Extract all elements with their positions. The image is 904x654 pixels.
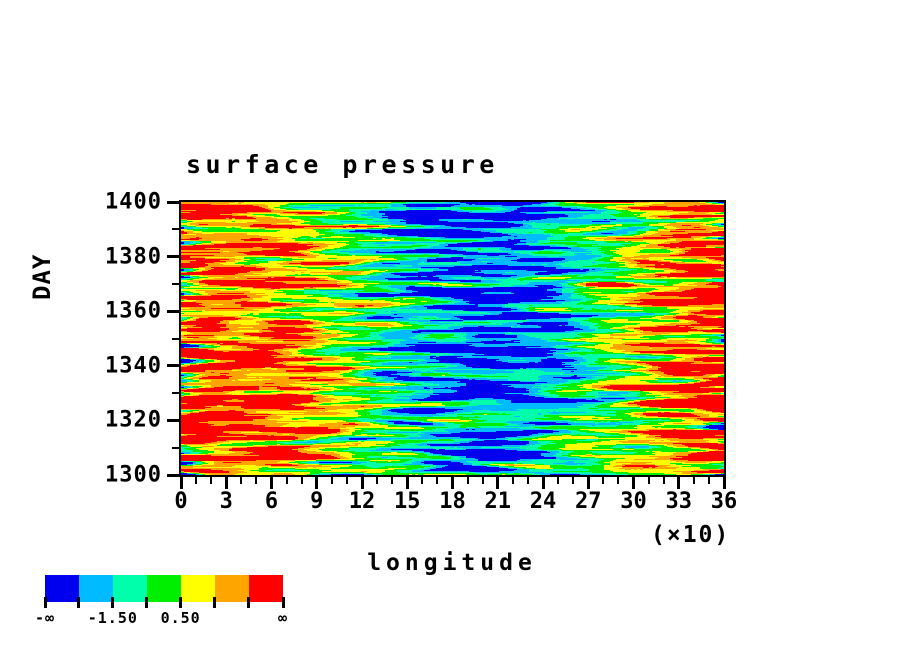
colorbar-swatch [113, 575, 147, 602]
x-tick-minor [482, 477, 484, 484]
x-tick-major [270, 477, 273, 489]
colorbar-tick [213, 597, 216, 608]
x-tick-label: 33 [666, 489, 693, 514]
x-tick-label: 3 [220, 489, 233, 514]
x-axis-scale-note: (×10) [651, 522, 730, 548]
x-tick-minor [693, 477, 695, 484]
x-tick-minor [602, 477, 604, 484]
y-tick-major [167, 419, 179, 422]
x-tick-label: 30 [620, 489, 647, 514]
y-tick-minor [172, 447, 179, 449]
colorbar-tick-label: -1.50 [88, 609, 138, 627]
x-tick-major [451, 477, 454, 489]
colorbar-tick-label: -∞ [35, 609, 55, 627]
colorbar-tick [282, 597, 285, 608]
colorbar-swatch [215, 575, 249, 602]
x-tick-label: 9 [310, 489, 323, 514]
x-tick-major [587, 477, 590, 489]
colorbar-tick [77, 597, 80, 608]
x-tick-label: 18 [439, 489, 466, 514]
colorbar-tick [247, 597, 250, 608]
colorbar-swatch [45, 575, 79, 602]
x-tick-major [632, 477, 635, 489]
x-tick-label: 6 [265, 489, 278, 514]
colorbar-swatch [79, 575, 113, 602]
colorbar-tick [145, 597, 148, 608]
colorbar-tick [44, 597, 47, 608]
x-tick-label: 12 [349, 489, 376, 514]
x-tick-minor [467, 477, 469, 484]
x-tick-minor [527, 477, 529, 484]
figure-root: surface pressure 0369121518212427303336 … [0, 0, 904, 654]
x-tick-minor [663, 477, 665, 484]
x-tick-major [180, 477, 183, 489]
colorbar-tick-label: 0.50 [161, 609, 201, 627]
y-tick-major [167, 255, 179, 258]
y-tick-label: 1320 [105, 408, 162, 433]
x-tick-minor [421, 477, 423, 484]
y-tick-major [167, 364, 179, 367]
x-tick-minor [301, 477, 303, 484]
x-tick-minor [708, 477, 710, 484]
colorbar-swatch [249, 575, 283, 602]
colorbar-tick-label: ∞ [278, 609, 288, 627]
y-tick-minor [172, 338, 179, 340]
x-tick-label: 24 [530, 489, 557, 514]
x-tick-minor [512, 477, 514, 484]
x-tick-minor [255, 477, 257, 484]
x-tick-major [361, 477, 364, 489]
x-tick-label: 0 [174, 489, 187, 514]
x-tick-label: 15 [394, 489, 421, 514]
x-tick-label: 21 [485, 489, 512, 514]
heatmap-plot-area [181, 202, 724, 475]
x-tick-minor [557, 477, 559, 484]
x-tick-label: 36 [711, 489, 738, 514]
colorbar-swatch [181, 575, 215, 602]
y-tick-minor [172, 228, 179, 230]
colorbar-tick [111, 597, 114, 608]
y-tick-major [167, 201, 179, 204]
x-tick-minor [331, 477, 333, 484]
x-tick-major [542, 477, 545, 489]
y-tick-label: 1380 [105, 244, 162, 269]
y-tick-label: 1400 [105, 190, 162, 215]
x-tick-minor [195, 477, 197, 484]
colorbar-tick [179, 597, 182, 608]
y-tick-label: 1300 [105, 463, 162, 488]
x-tick-label: 27 [575, 489, 602, 514]
x-axis-title: longitude [0, 550, 904, 576]
x-tick-minor [346, 477, 348, 484]
x-tick-major [315, 477, 318, 489]
x-tick-minor [648, 477, 650, 484]
y-tick-label: 1340 [105, 353, 162, 378]
x-tick-minor [240, 477, 242, 484]
x-tick-major [723, 477, 726, 489]
x-tick-minor [572, 477, 574, 484]
x-tick-minor [210, 477, 212, 484]
x-tick-minor [391, 477, 393, 484]
x-tick-major [677, 477, 680, 489]
y-tick-minor [172, 392, 179, 394]
x-tick-minor [286, 477, 288, 484]
x-tick-major [406, 477, 409, 489]
colorbar-swatch [147, 575, 181, 602]
heatmap-canvas [181, 202, 724, 475]
y-axis-title: DAY [28, 254, 56, 300]
page-title: surface pressure [186, 150, 499, 179]
x-tick-minor [436, 477, 438, 484]
y-tick-minor [172, 283, 179, 285]
y-tick-major [167, 310, 179, 313]
x-tick-minor [376, 477, 378, 484]
x-tick-major [496, 477, 499, 489]
x-tick-minor [617, 477, 619, 484]
y-tick-major [167, 474, 179, 477]
x-tick-major [225, 477, 228, 489]
y-tick-label: 1360 [105, 299, 162, 324]
